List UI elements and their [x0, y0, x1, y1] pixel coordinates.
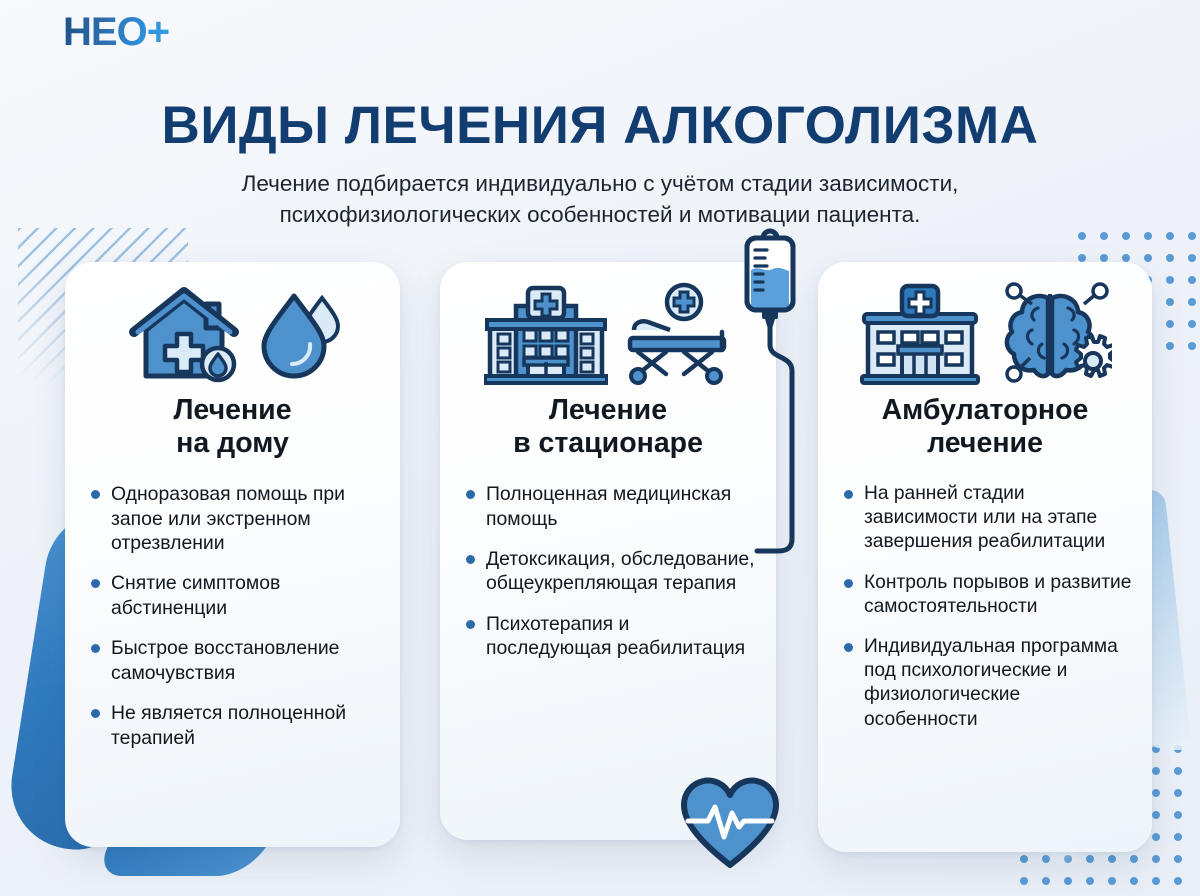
- hospital-building-icon: [484, 282, 608, 386]
- card-1-title-line-1: Лечение: [79, 394, 386, 427]
- card-1-title-line-2: на дому: [79, 427, 386, 460]
- list-item: Индивидуальная программа под психологиче…: [844, 635, 1134, 732]
- infographic-canvas: НЕО+ ВИДЫ ЛЕЧЕНИЯ АЛКОГОЛИЗМА Лечение по…: [0, 0, 1200, 896]
- list-item: Детоксикация, обследование, общеукрепляю…: [466, 547, 758, 596]
- card-2-title-line-1: Лечение: [454, 394, 762, 427]
- list-item: Одноразовая помощь при запое или экстрен…: [91, 482, 382, 555]
- card-1-title: Лечение на дому: [65, 394, 400, 460]
- water-drop-icon: [256, 282, 340, 386]
- card-3-icons: [818, 262, 1152, 390]
- card-1-icons: [65, 262, 400, 390]
- card-inpatient-treatment[interactable]: Лечение в стационаре Полноценная медицин…: [440, 262, 776, 840]
- list-item: Снятие симптомов абстиненции: [91, 571, 382, 620]
- house-medical-icon: [126, 282, 242, 386]
- card-2-title: Лечение в стационаре: [440, 394, 776, 460]
- clinic-building-icon: [858, 282, 982, 386]
- list-item: Психотерапия и последующая реабилитация: [466, 612, 758, 661]
- iv-drip-icon: [735, 228, 805, 568]
- list-item: Полноценная медицинская помощь: [466, 482, 758, 531]
- card-3-title: Амбулаторное лечение: [818, 394, 1152, 460]
- list-item: Контроль порывов и развитие самостоятель…: [844, 571, 1134, 619]
- list-item: Быстрое восстановление самочувствия: [91, 636, 382, 685]
- card-2-icons: [440, 262, 776, 390]
- card-2-title-line-2: в стационаре: [454, 427, 762, 460]
- card-3-title-line-2: лечение: [832, 427, 1138, 460]
- heart-pulse-icon: [678, 775, 782, 871]
- treatment-cards-row: Лечение на дому Одноразовая помощь при з…: [0, 0, 1200, 896]
- card-home-treatment[interactable]: Лечение на дому Одноразовая помощь при з…: [65, 262, 400, 847]
- card-2-bullet-list: Полноценная медицинская помощь Детоксика…: [440, 482, 776, 661]
- list-item: На ранней стадии зависимости или на этап…: [844, 482, 1134, 555]
- card-1-bullet-list: Одноразовая помощь при запое или экстрен…: [65, 482, 400, 750]
- card-3-bullet-list: На ранней стадии зависимости или на этап…: [818, 482, 1152, 732]
- card-3-title-line-1: Амбулаторное: [832, 394, 1138, 427]
- hospital-bed-icon: [622, 282, 732, 386]
- brain-gear-icon: [996, 282, 1112, 386]
- list-item: Не является полноценной терапией: [91, 701, 382, 750]
- card-outpatient-treatment[interactable]: Амбулаторное лечение На ранней стадии за…: [818, 262, 1152, 852]
